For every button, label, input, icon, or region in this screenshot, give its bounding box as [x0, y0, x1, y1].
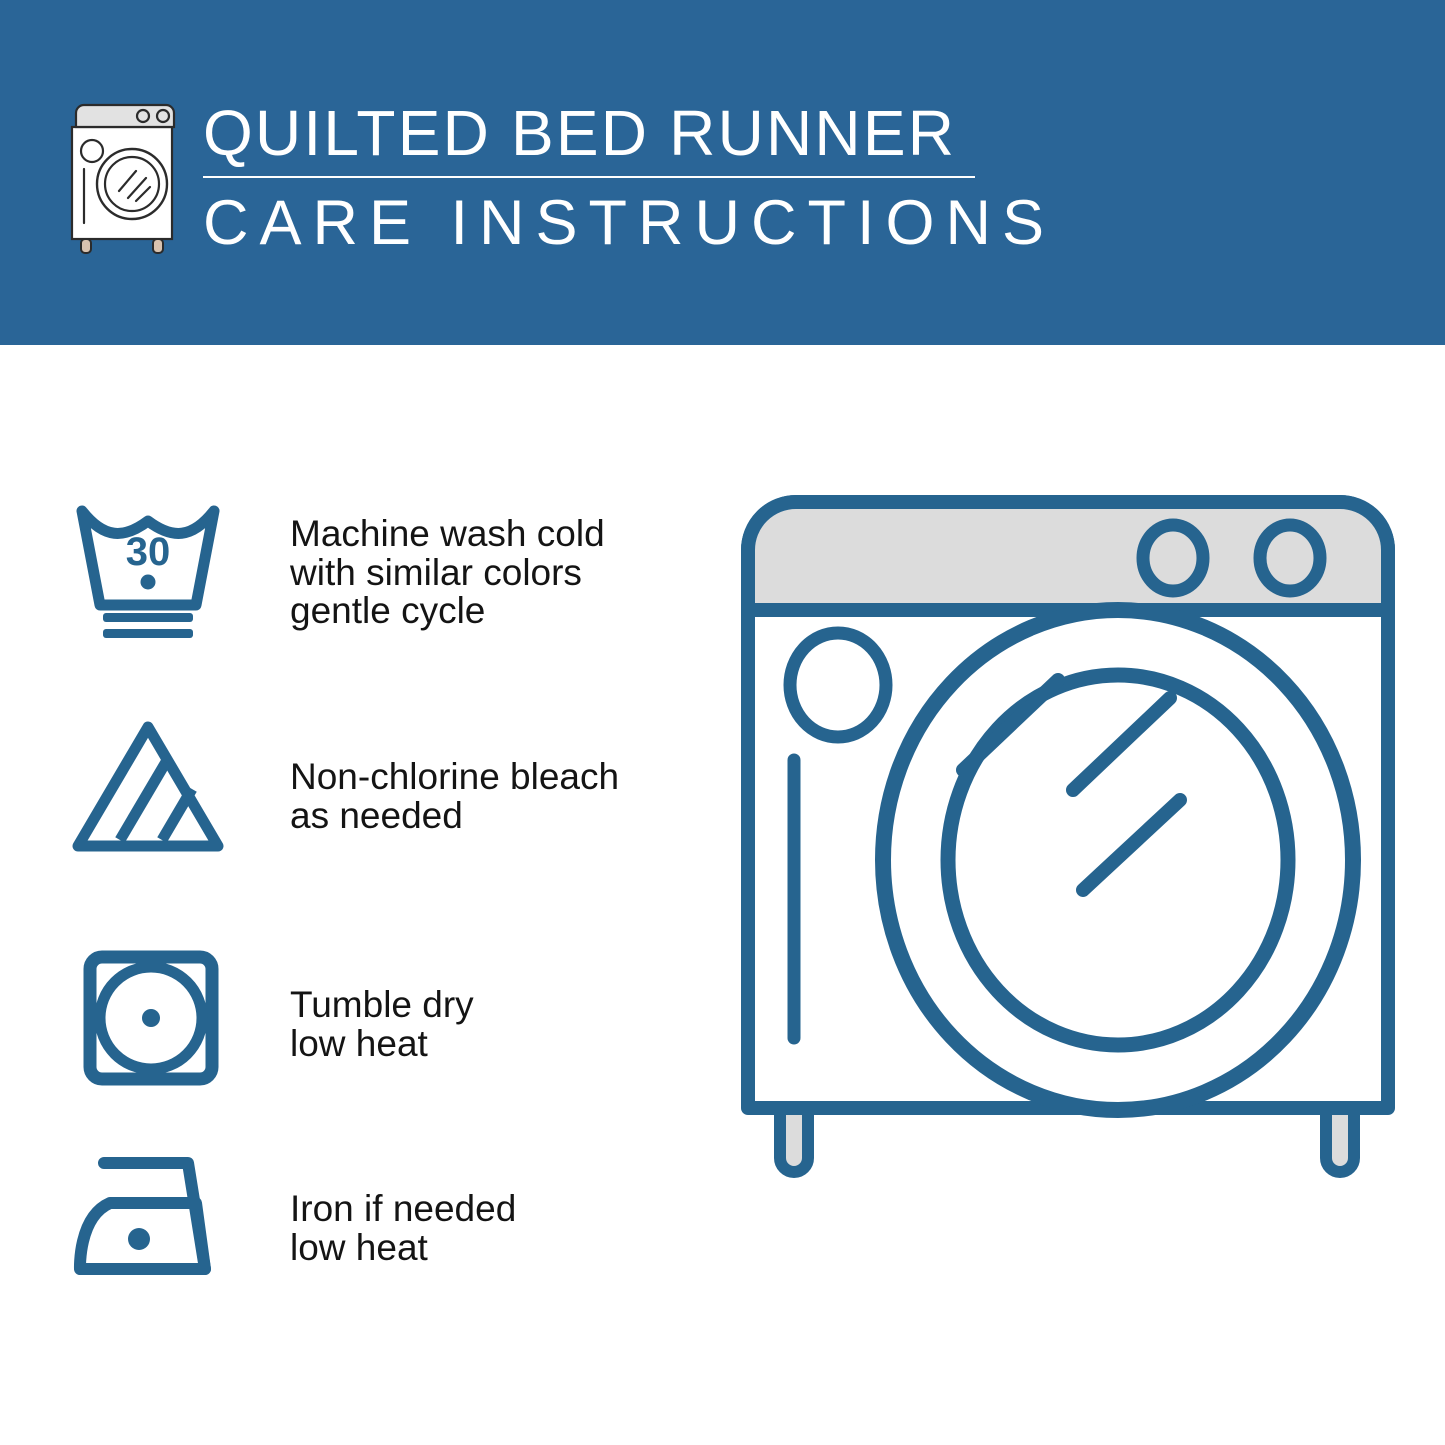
iron-low-heat-icon	[70, 1145, 230, 1295]
tumble-dry-low-icon	[70, 943, 230, 1093]
control-dial-2	[1260, 525, 1320, 591]
care-instruction-label: Iron if needed low heat	[290, 1190, 516, 1267]
care-instructions-infographic: QUILTED BED RUNNER CARE INSTRUCTIONS 30	[0, 0, 1445, 1445]
header-banner: QUILTED BED RUNNER CARE INSTRUCTIONS	[0, 0, 1445, 345]
detergent-knob	[790, 633, 886, 737]
wash-temperature-value: 30	[126, 530, 171, 574]
care-instruction-label: Machine wash cold with similar colors ge…	[290, 515, 605, 631]
washing-machine-icon	[62, 101, 186, 256]
control-dial-1	[1143, 525, 1203, 591]
non-chlorine-bleach-triangle-icon	[70, 715, 230, 865]
header-divider	[203, 176, 975, 178]
care-instruction-label: Tumble dry low heat	[290, 986, 474, 1063]
page-subtitle: CARE INSTRUCTIONS	[203, 186, 1203, 260]
page-title: QUILTED BED RUNNER	[203, 96, 1203, 170]
wash-tub-30-gentle-icon: 30	[70, 493, 230, 643]
header-text-block: QUILTED BED RUNNER CARE INSTRUCTIONS	[203, 96, 1203, 260]
care-instruction-label: Non-chlorine bleach as needed	[290, 758, 619, 835]
care-symbol-list: 30 Machine wash cold with similar colors…	[0, 345, 660, 1445]
washing-machine-illustration	[718, 470, 1418, 1370]
